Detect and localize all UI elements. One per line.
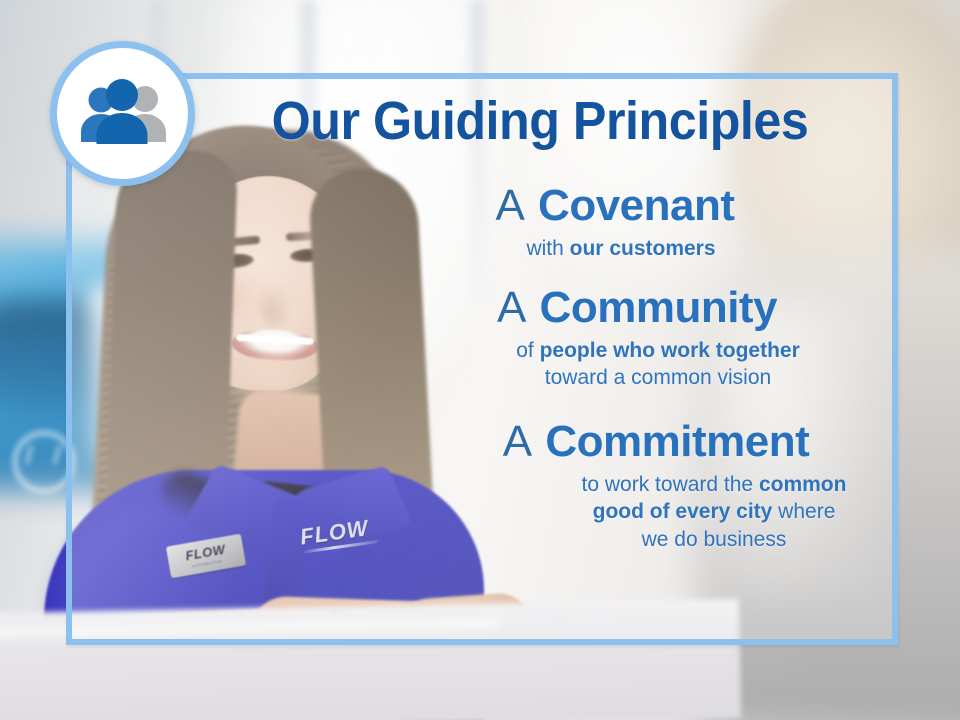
- principle-commitment: A Commitment to work toward the common g…: [422, 418, 890, 554]
- principle-word: Covenant: [538, 181, 734, 230]
- subtext-line2-plain: where: [772, 500, 835, 523]
- poster-canvas: FLOW AUTOMOTIVE FLOW: [0, 0, 960, 720]
- principle-community: A Community of people who work together …: [384, 284, 890, 392]
- subtext-line3: we do business: [642, 528, 787, 551]
- subtext-line2: toward a common vision: [545, 366, 771, 389]
- people-badge: [50, 41, 195, 186]
- principle-word: Commitment: [545, 417, 809, 466]
- principle-covenant: A Covenant with our customers: [340, 182, 890, 262]
- principle-subtext: to work toward the common good of every …: [538, 471, 890, 554]
- principle-heading: A Covenant: [340, 182, 890, 230]
- principle-article: A: [503, 417, 533, 466]
- principle-subtext: with our customers: [352, 235, 890, 263]
- principle-word: Community: [540, 283, 778, 332]
- principle-heading: A Community: [384, 284, 890, 332]
- principle-article: A: [497, 283, 527, 332]
- poster-title: Our Guiding Principles: [224, 94, 856, 148]
- principle-subtext: of people who work together toward a com…: [426, 337, 890, 392]
- subtext-line2-bold: good of every city: [593, 500, 773, 523]
- subtext-plain: to work toward the: [582, 473, 759, 496]
- subtext-plain: with: [526, 237, 569, 260]
- subtext-bold: common: [759, 473, 847, 496]
- subtext-bold: our customers: [570, 237, 716, 260]
- subtext-plain: of: [516, 339, 539, 362]
- people-group-icon: [75, 79, 171, 149]
- principle-heading: A Commitment: [422, 418, 890, 466]
- principle-article: A: [495, 181, 525, 230]
- principles-list: A Covenant with our customers A Communit…: [330, 182, 890, 560]
- subtext-bold: people who work together: [540, 339, 800, 362]
